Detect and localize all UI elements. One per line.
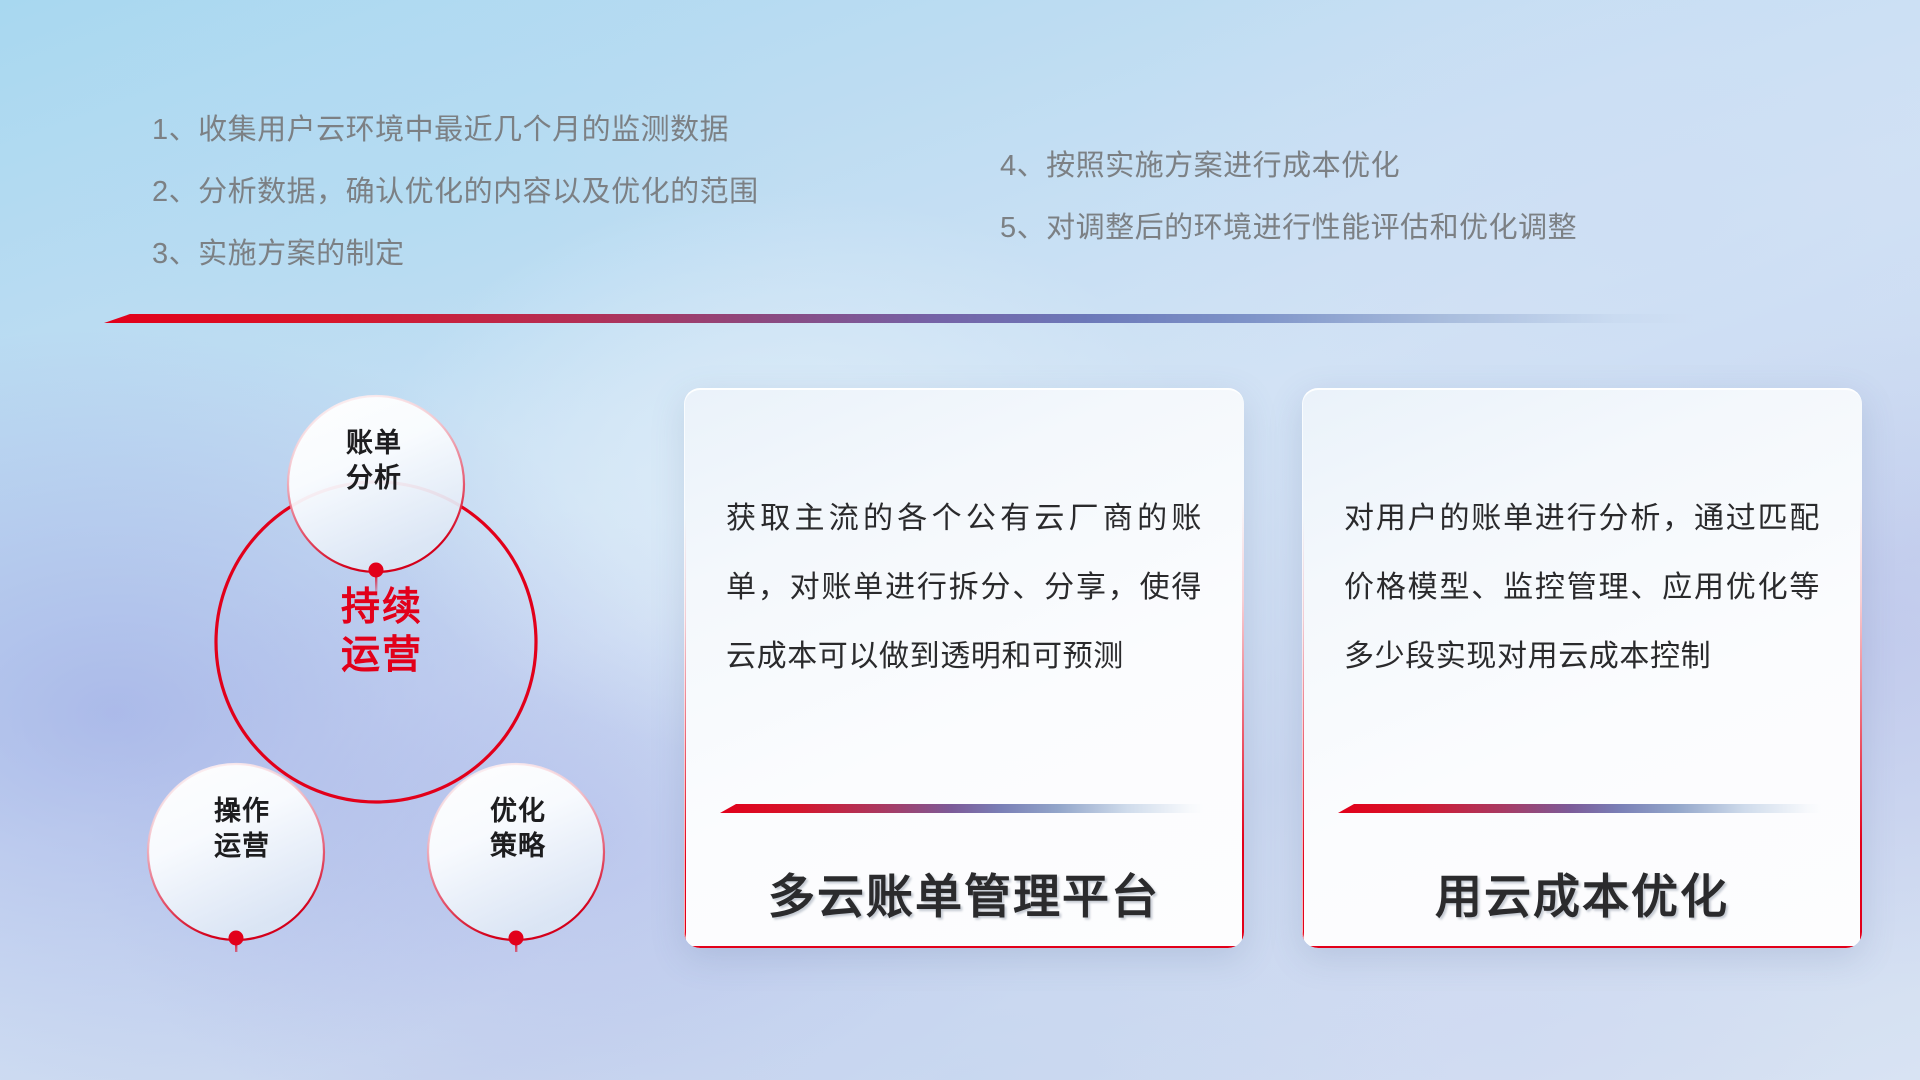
card-accent-bar xyxy=(1338,804,1822,813)
step-item: 4、按照实施方案进行成本优化 xyxy=(1000,152,1577,181)
card-title: 用云成本优化 xyxy=(1302,858,1862,927)
diagram-center-label: 持续 运营 xyxy=(292,584,472,679)
node-dot-bottom-right xyxy=(509,931,524,946)
node-dot-bottom-left xyxy=(229,931,244,946)
steps-right-column: 4、按照实施方案进行成本优化 5、对调整后的环境进行性能评估和优化调整 xyxy=(1000,152,1577,276)
bubble-label-operations: 操作 运营 xyxy=(152,794,332,863)
step-item: 5、对调整后的环境进行性能评估和优化调整 xyxy=(1000,214,1577,243)
card-body-text: 对用户的账单进行分析，通过匹配价格模型、监控管理、应用优化等多少段实现对用云成本… xyxy=(1344,484,1820,691)
step-item: 3、实施方案的制定 xyxy=(152,240,759,269)
section-divider xyxy=(104,314,1694,326)
card-cloud-cost-optimization[interactable]: 对用户的账单进行分析，通过匹配价格模型、监控管理、应用优化等多少段实现对用云成本… xyxy=(1302,388,1862,948)
steps-left-column: 1、收集用户云环境中最近几个月的监测数据 2、分析数据，确认优化的内容以及优化的… xyxy=(152,116,759,302)
divider-bar xyxy=(104,314,1694,323)
card-body-text: 获取主流的各个公有云厂商的账单，对账单进行拆分、分享，使得云成本可以做到透明和可… xyxy=(726,484,1202,691)
card-multi-cloud-billing[interactable]: 获取主流的各个公有云厂商的账单，对账单进行拆分、分享，使得云成本可以做到透明和可… xyxy=(684,388,1244,948)
card-accent-bar xyxy=(720,804,1204,813)
step-item: 2、分析数据，确认优化的内容以及优化的范围 xyxy=(152,178,759,207)
card-title: 多云账单管理平台 xyxy=(684,858,1244,927)
continuous-operation-diagram: 账单 分析 操作 运营 优化 策略 持续 运营 xyxy=(96,352,656,952)
bubble-label-billing-analysis: 账单 分析 xyxy=(284,426,464,495)
step-item: 1、收集用户云环境中最近几个月的监测数据 xyxy=(152,116,759,145)
bubble-label-optimization: 优化 策略 xyxy=(428,794,608,863)
node-dot-top xyxy=(369,563,384,578)
process-steps: 1、收集用户云环境中最近几个月的监测数据 2、分析数据，确认优化的内容以及优化的… xyxy=(0,0,1920,300)
